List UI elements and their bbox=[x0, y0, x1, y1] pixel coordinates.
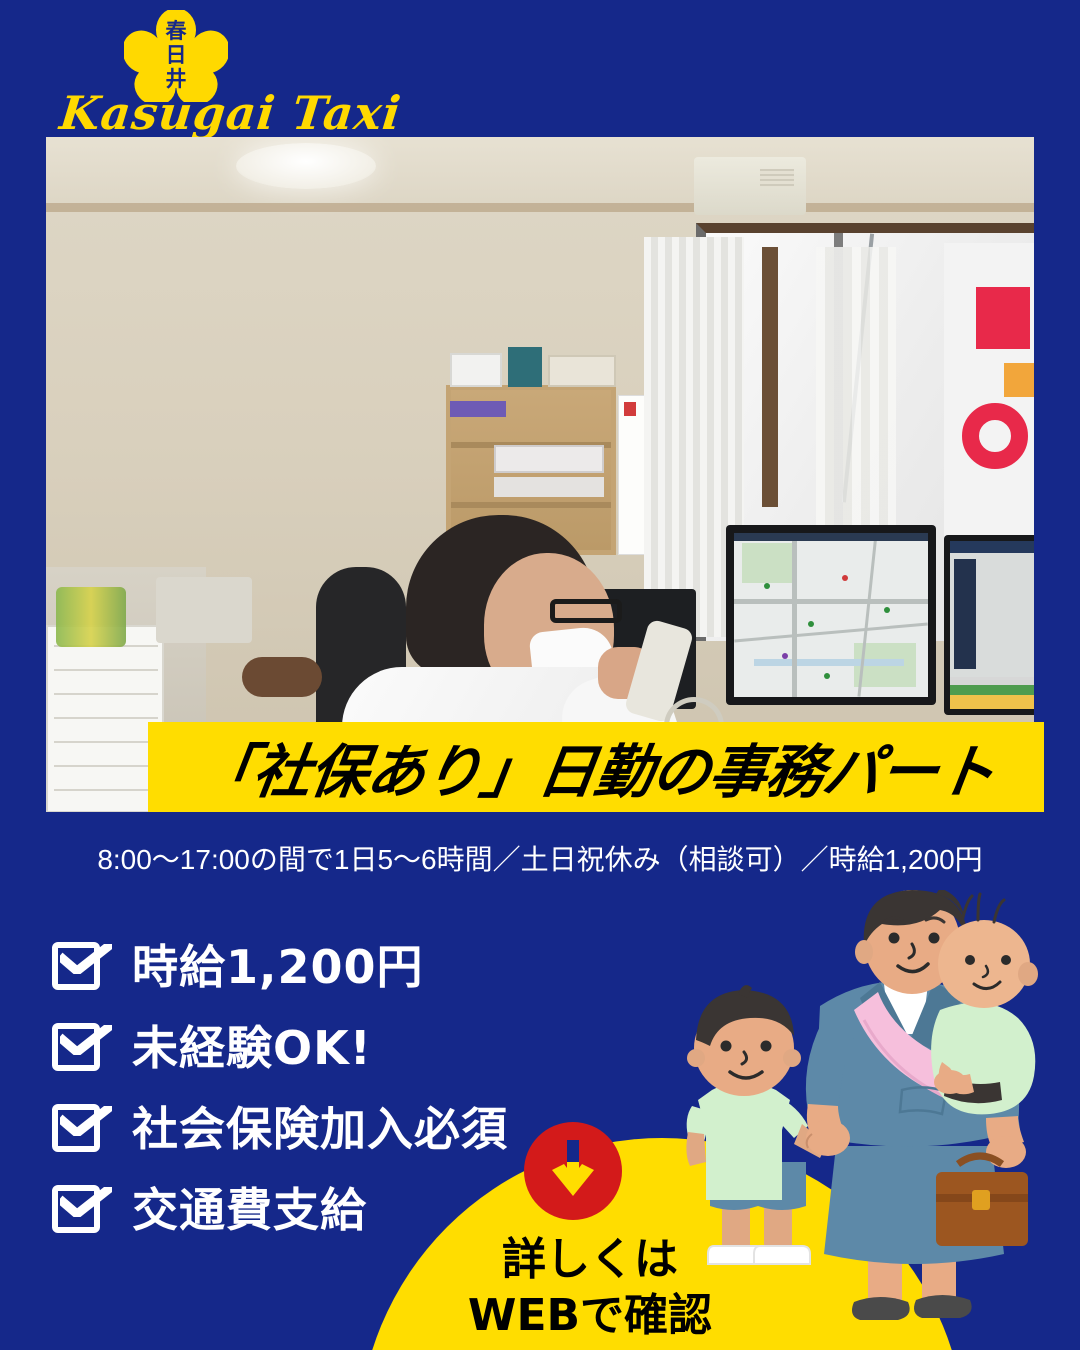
checklist-item: 未経験OK! bbox=[52, 1006, 692, 1084]
checkbox-checked-icon bbox=[52, 1181, 104, 1233]
drink-bottles bbox=[56, 587, 126, 647]
shelf-box bbox=[548, 355, 616, 387]
dispatch-data-monitor bbox=[944, 535, 1034, 715]
checkbox-checked-icon bbox=[52, 1019, 104, 1071]
checklist-label: 時給1,200円 bbox=[132, 931, 424, 997]
shelf-tray-lower bbox=[494, 477, 604, 497]
chair-armrest bbox=[242, 657, 322, 697]
down-arrow-icon bbox=[550, 1140, 596, 1202]
wall-whiteboard bbox=[46, 625, 164, 812]
brand-wordmark: Kasugai Taxi bbox=[43, 86, 339, 140]
shelf-bag bbox=[508, 347, 542, 387]
office-photo bbox=[46, 137, 1034, 812]
svg-text:日: 日 bbox=[166, 43, 187, 67]
checkbox-checked-icon bbox=[52, 938, 104, 990]
checkbox-checked-icon bbox=[52, 1100, 104, 1152]
shelf-tray-upper bbox=[494, 445, 604, 473]
shelf-binder bbox=[450, 401, 506, 417]
dispatch-map-monitor bbox=[726, 525, 936, 705]
checklist-label: 交通費支給 bbox=[132, 1174, 367, 1240]
subtitle-text: 8:00〜17:00の間で1日5〜6時間／土日祝休み（相談可）／時給1,200円 bbox=[0, 838, 1080, 878]
photo-ceiling bbox=[46, 137, 1034, 207]
brand-logo[interactable]: 春 日 井 Kasugai Taxi bbox=[46, 8, 346, 136]
poster-root: 春 日 井 Kasugai Taxi bbox=[0, 0, 1080, 1350]
cta-line-1: 詳しくは bbox=[380, 1232, 800, 1288]
ceiling-light bbox=[236, 143, 376, 189]
headline-text: 「社保あり」日勤の事務パート bbox=[191, 725, 1001, 809]
checklist-label: 社会保険加入必須 bbox=[132, 1093, 508, 1159]
boy-figure bbox=[686, 985, 828, 1264]
air-conditioner bbox=[694, 157, 806, 215]
svg-text:春: 春 bbox=[166, 19, 188, 43]
wall-molding bbox=[46, 203, 1034, 212]
checklist-item: 時給1,200円 bbox=[52, 925, 692, 1003]
cta-text[interactable]: 詳しくは WEBで確認 bbox=[380, 1232, 800, 1345]
staff-glasses bbox=[550, 599, 622, 623]
headline-banner: 「社保あり」日勤の事務パート bbox=[148, 722, 1044, 812]
office-printer bbox=[156, 577, 252, 643]
cta-line-2: WEBで確認 bbox=[380, 1288, 800, 1344]
shelf-basket bbox=[450, 353, 502, 387]
checklist-label: 未経験OK! bbox=[132, 1012, 372, 1078]
outside-signboard bbox=[944, 243, 1034, 543]
